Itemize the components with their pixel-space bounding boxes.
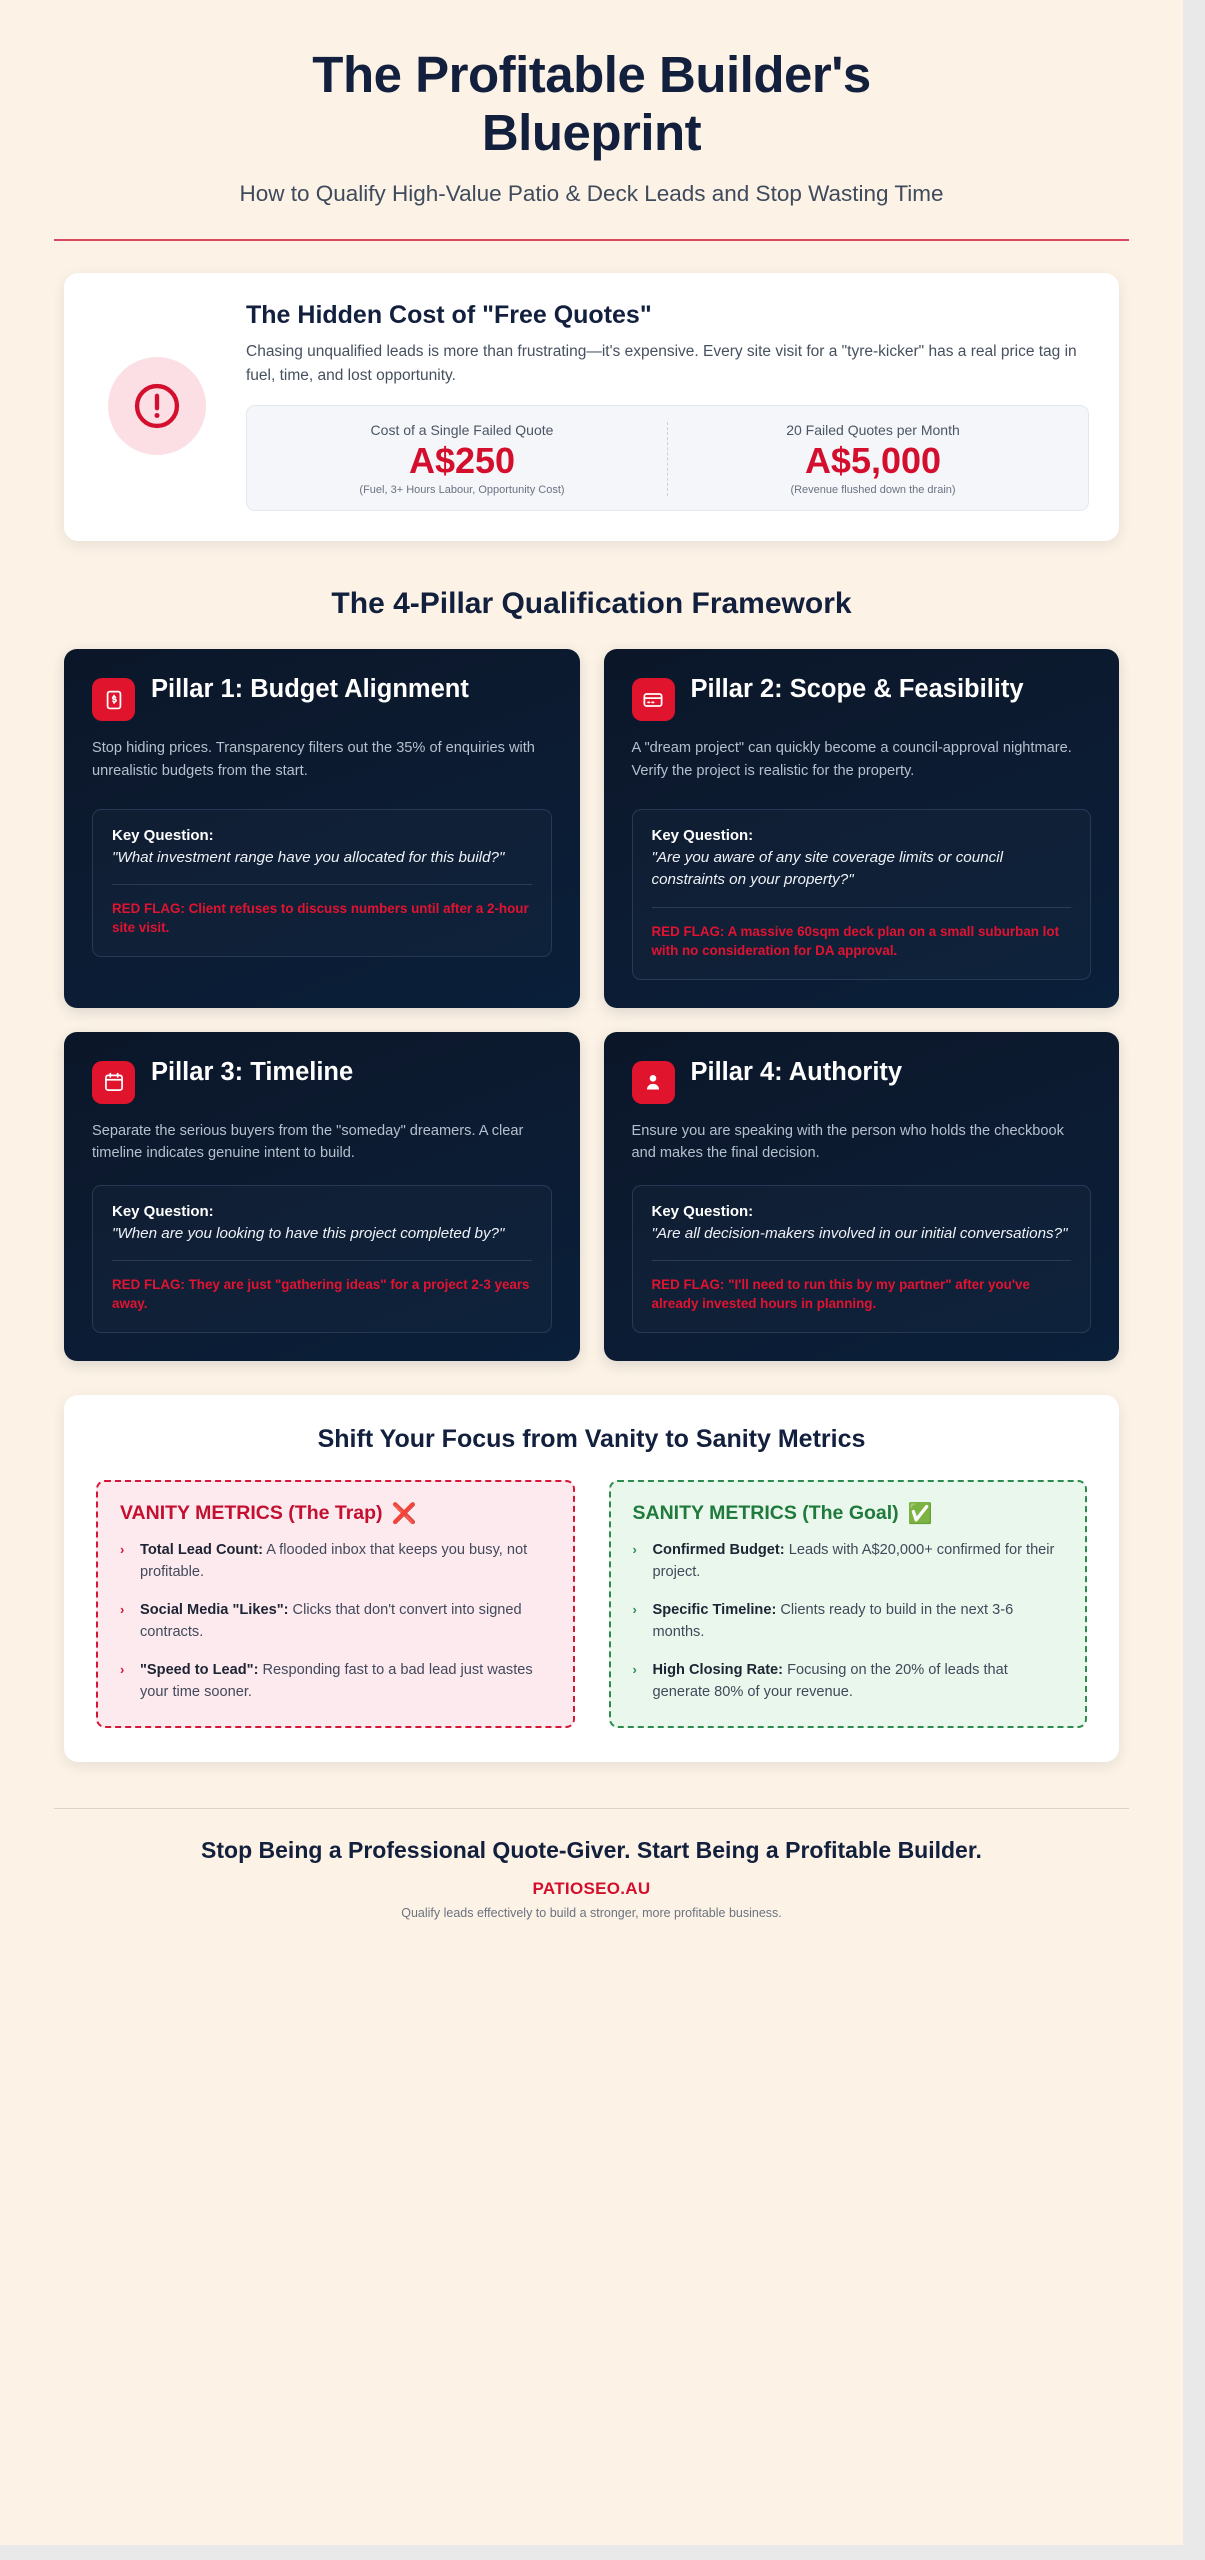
footer: Stop Being a Professional Quote-Giver. S…: [33, 1809, 1150, 1920]
vanity-metrics-box: VANITY METRICS (The Trap) ❌ › Total Lead…: [96, 1480, 575, 1727]
pillar-card-2: Pillar 2: Scope & Feasibility A "dream p…: [604, 649, 1120, 1007]
chevron-right-icon: ›: [633, 1600, 637, 1620]
vanity-metrics-list: › Total Lead Count: A flooded inbox that…: [120, 1540, 551, 1703]
metrics-card: Shift Your Focus from Vanity to Sanity M…: [64, 1395, 1119, 1761]
sanity-metrics-list: › Confirmed Budget: Leads with A$20,000+…: [633, 1540, 1064, 1703]
cost-stat-note: (Revenue flushed down the drain): [680, 484, 1066, 496]
vanity-metrics-heading-text: VANITY METRICS (The Trap): [120, 1502, 383, 1525]
key-question-divider: [652, 1260, 1072, 1261]
list-item: › Total Lead Count: A flooded inbox that…: [120, 1540, 551, 1584]
pillar-header: Pillar 4: Authority: [632, 1058, 1092, 1104]
hidden-cost-description: Chasing unqualified leads is more than f…: [246, 340, 1089, 387]
footer-title: Stop Being a Professional Quote-Giver. S…: [33, 1837, 1150, 1864]
list-item: › Social Media "Likes": Clicks that don'…: [120, 1600, 551, 1644]
list-item-term: High Closing Rate:: [653, 1662, 784, 1678]
header: The Profitable Builder's Blueprint How t…: [33, 0, 1150, 241]
key-question-box: Key Question: "When are you looking to h…: [92, 1185, 552, 1334]
pillar-header: Pillar 3: Timeline: [92, 1058, 552, 1104]
red-flag-text: RED FLAG: "I'll need to run this by my p…: [652, 1275, 1072, 1313]
list-item-term: Specific Timeline:: [653, 1602, 777, 1618]
page-subtitle: How to Qualify High-Value Patio & Deck L…: [33, 181, 1150, 207]
chevron-right-icon: ›: [633, 1540, 637, 1560]
key-question-label: Key Question:: [112, 1203, 532, 1220]
infographic-page: The Profitable Builder's Blueprint How t…: [0, 0, 1183, 2545]
chevron-right-icon: ›: [120, 1540, 124, 1560]
pillar-description: Separate the serious buyers from the "so…: [92, 1120, 552, 1165]
pillar-description: A "dream project" can quickly become a c…: [632, 737, 1092, 782]
cost-stat-note: (Fuel, 3+ Hours Labour, Opportunity Cost…: [269, 484, 655, 496]
footer-note: Qualify leads effectively to build a str…: [33, 1906, 1150, 1920]
pillar-description: Stop hiding prices. Transparency filters…: [92, 737, 552, 782]
key-question-text: "Are you aware of any site coverage limi…: [652, 847, 1072, 892]
calendar-icon: [92, 1061, 135, 1104]
pillar-card-1: Pillar 1: Budget Alignment Stop hiding p…: [64, 649, 580, 1007]
cost-stat-row: Cost of a Single Failed Quote A$250 (Fue…: [246, 405, 1089, 512]
key-question-divider: [112, 1260, 532, 1261]
pillar-header: Pillar 2: Scope & Feasibility: [632, 675, 1092, 721]
pillar-header: Pillar 1: Budget Alignment: [92, 675, 552, 721]
chevron-right-icon: ›: [120, 1660, 124, 1680]
key-question-text: "What investment range have you allocate…: [112, 847, 532, 870]
user-icon: [632, 1061, 675, 1104]
key-question-divider: [652, 907, 1072, 908]
list-item: › "Speed to Lead": Responding fast to a …: [120, 1660, 551, 1704]
footer-brand: PATIOSEO.AU: [33, 1879, 1150, 1899]
chevron-right-icon: ›: [120, 1600, 124, 1620]
cross-mark-icon: ❌: [392, 1504, 417, 1524]
check-mark-icon: ✅: [908, 1504, 933, 1524]
list-item: › Specific Timeline: Clients ready to bu…: [633, 1600, 1064, 1644]
red-flag-text: RED FLAG: Client refuses to discuss numb…: [112, 899, 532, 937]
pillar-title: Pillar 2: Scope & Feasibility: [691, 675, 1024, 705]
hidden-cost-body: The Hidden Cost of "Free Quotes" Chasing…: [246, 301, 1089, 511]
sanity-metrics-box: SANITY METRICS (The Goal) ✅ › Confirmed …: [609, 1480, 1088, 1727]
metrics-grid: VANITY METRICS (The Trap) ❌ › Total Lead…: [96, 1480, 1087, 1727]
pillar-card-4: Pillar 4: Authority Ensure you are speak…: [604, 1032, 1120, 1362]
cost-stat-label: Cost of a Single Failed Quote: [269, 422, 655, 438]
list-item-term: "Speed to Lead":: [140, 1662, 258, 1678]
pillar-grid: Pillar 1: Budget Alignment Stop hiding p…: [64, 649, 1119, 1361]
pillar-description: Ensure you are speaking with the person …: [632, 1120, 1092, 1165]
red-flag-text: RED FLAG: A massive 60sqm deck plan on a…: [652, 922, 1072, 960]
credit-card-icon: [632, 678, 675, 721]
red-flag-text: RED FLAG: They are just "gathering ideas…: [112, 1275, 532, 1313]
hidden-cost-title: The Hidden Cost of "Free Quotes": [246, 301, 1089, 330]
framework-title: The 4-Pillar Qualification Framework: [33, 587, 1150, 621]
pillar-card-3: Pillar 3: Timeline Separate the serious …: [64, 1032, 580, 1362]
key-question-text: "When are you looking to have this proje…: [112, 1223, 532, 1246]
chevron-right-icon: ›: [633, 1660, 637, 1680]
cost-stat: 20 Failed Quotes per Month A$5,000 (Reve…: [667, 422, 1078, 497]
pillar-title: Pillar 3: Timeline: [151, 1058, 353, 1088]
key-question-label: Key Question:: [112, 827, 532, 844]
list-item-term: Social Media "Likes":: [140, 1602, 288, 1618]
sanity-metrics-heading: SANITY METRICS (The Goal) ✅: [633, 1502, 1064, 1525]
hidden-cost-card: The Hidden Cost of "Free Quotes" Chasing…: [64, 273, 1119, 541]
cost-stat: Cost of a Single Failed Quote A$250 (Fue…: [257, 422, 667, 497]
header-divider: [54, 239, 1129, 241]
list-item-term: Confirmed Budget:: [653, 1542, 785, 1558]
receipt-dollar-icon: [92, 678, 135, 721]
pillar-title: Pillar 1: Budget Alignment: [151, 675, 469, 705]
cost-stat-label: 20 Failed Quotes per Month: [680, 422, 1066, 438]
alert-circle-icon: [108, 357, 206, 455]
key-question-label: Key Question:: [652, 1203, 1072, 1220]
key-question-label: Key Question:: [652, 827, 1072, 844]
metrics-title: Shift Your Focus from Vanity to Sanity M…: [96, 1425, 1087, 1454]
pillar-title: Pillar 4: Authority: [691, 1058, 903, 1088]
key-question-text: "Are all decision-makers involved in our…: [652, 1223, 1072, 1246]
cost-stat-value: A$250: [269, 441, 655, 481]
cost-stat-value: A$5,000: [680, 441, 1066, 481]
list-item: › Confirmed Budget: Leads with A$20,000+…: [633, 1540, 1064, 1584]
alert-icon-wrap: [94, 357, 220, 455]
vanity-metrics-heading: VANITY METRICS (The Trap) ❌: [120, 1502, 551, 1525]
list-item-term: Total Lead Count:: [140, 1542, 263, 1558]
sanity-metrics-heading-text: SANITY METRICS (The Goal): [633, 1502, 899, 1525]
key-question-box: Key Question: "What investment range hav…: [92, 809, 552, 958]
page-title: The Profitable Builder's Blueprint: [202, 46, 982, 161]
key-question-box: Key Question: "Are you aware of any site…: [632, 809, 1092, 980]
key-question-divider: [112, 884, 532, 885]
key-question-box: Key Question: "Are all decision-makers i…: [632, 1185, 1092, 1334]
list-item: › High Closing Rate: Focusing on the 20%…: [633, 1660, 1064, 1704]
